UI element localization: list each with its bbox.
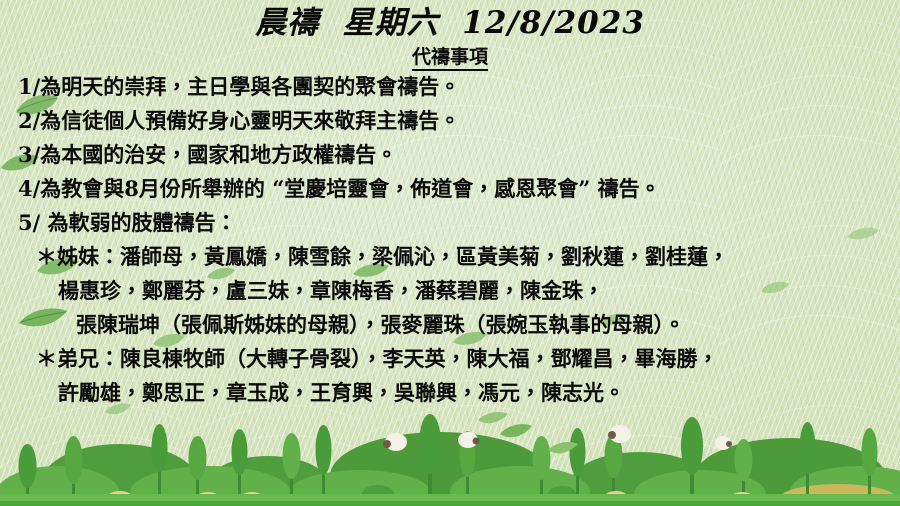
prayer-item-sisters-cont: 張陳瑞坤（張佩斯姊妹的母親），張麥麗珠（張婉玉執事的母親）。 <box>18 308 894 342</box>
prayer-item-brothers: ＊弟兄：陳良棟牧師（大轉子骨裂），李天英，陳大福，鄧耀昌，畢海勝， <box>18 342 894 376</box>
prayer-item-sisters-cont: 楊惠珍，鄭麗芬，盧三妹，章陳梅香，潘蔡碧麗，陳金珠， <box>18 274 894 308</box>
prayer-item: 2/為信徒個人預備好身心靈明天來敬拜主禱告。 <box>18 104 894 138</box>
prayer-item-sisters: ＊姊妹：潘師母，黃鳳嬌，陳雪餘，梁佩沁，區黃美菊，劉秋蓮，劉桂蓮， <box>18 240 894 274</box>
prayer-item-list: 1/為明天的崇拜，主日學與各團契的聚會禱告。 2/為信徒個人預備好身心靈明天來敬… <box>0 70 900 410</box>
page-subtitle: 代禱事項 <box>0 46 900 69</box>
grass-band-dark <box>0 501 900 506</box>
prayer-item: 5/ 為軟弱的肢體禱告： <box>18 206 894 240</box>
prayer-item: 1/為明天的崇拜，主日學與各團契的聚會禱告。 <box>18 70 894 104</box>
prayer-item: 4/為教會與8月份所舉辦的 “堂慶培靈會，佈道會，感恩聚會” 禱告。 <box>18 172 894 206</box>
slide-content: 晨禱 星期六 12/8/2023 代禱事項 1/為明天的崇拜，主日學與各團契的聚… <box>0 0 900 410</box>
page-subtitle-text: 代禱事項 <box>412 46 488 71</box>
prayer-item-brothers-cont: 許勵雄，鄭思正，章玉成，王育興，吳聯興，馮元，陳志光。 <box>18 376 894 410</box>
rolling-hills-landscape <box>0 406 900 506</box>
page-title: 晨禱 星期六 12/8/2023 <box>0 6 900 42</box>
prayer-slide: 晨禱 星期六 12/8/2023 代禱事項 1/為明天的崇拜，主日學與各團契的聚… <box>0 0 900 506</box>
prayer-item: 3/為本國的治安，國家和地方政權禱告。 <box>18 138 894 172</box>
